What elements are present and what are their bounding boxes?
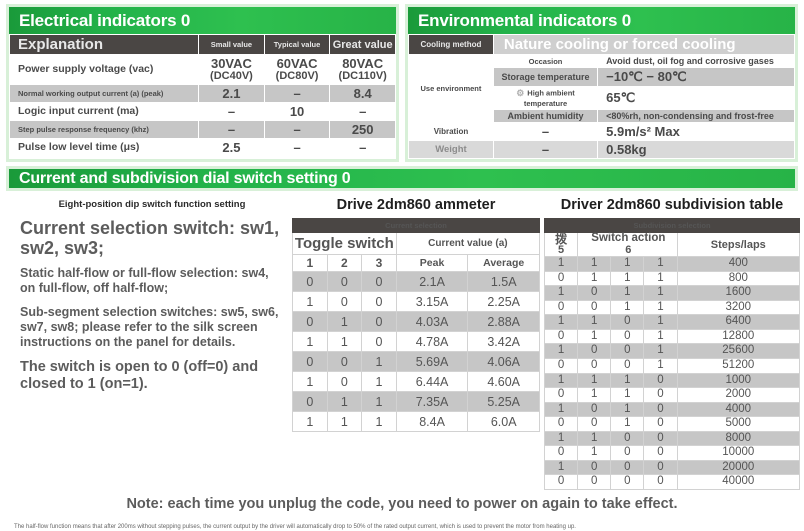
switch-cell: 0 [293, 352, 328, 372]
subdivision-band-label: Subdivision selection [545, 219, 800, 233]
switch-cell: 1 [293, 372, 328, 392]
switch-cell: 1 [611, 417, 644, 432]
switch-cell: 1 [545, 431, 578, 446]
switch-cell: 0 [578, 300, 611, 315]
switch-cell: 1 [362, 392, 397, 412]
row-label: Ambient humidity [493, 110, 597, 123]
switch-cell: 1 [578, 431, 611, 446]
column-header-explanation: Explanation [10, 35, 199, 55]
row-label: ⚙High ambient temperature [493, 87, 597, 110]
switch-cell: 1 [293, 332, 328, 352]
vibration-value: 5.9m/s² Max [598, 123, 795, 141]
switch-cell: 0 [293, 392, 328, 412]
cooling-method-label: Cooling method [409, 35, 494, 55]
power-cycle-note: Note: each time you unplug the code, you… [0, 496, 804, 512]
row-value: 65℃ [598, 87, 795, 110]
subdivision-section-header-wrap: Current and subdivision dial switch sett… [0, 162, 804, 191]
row-label: Step pulse response frequency (khz) [10, 120, 199, 138]
table-row: 1 1 0 4.78A 3.42A [293, 332, 540, 352]
table-row: Step pulse response frequency (khz) – – … [10, 120, 396, 138]
column-header-great-value: Great value [330, 35, 396, 55]
switch-cell: 0 [611, 358, 644, 373]
table-row: Normal working output current (a) (peak)… [10, 84, 396, 102]
switch-cell: 1 [644, 344, 677, 359]
weight-row: Weight – 0.58kg [409, 141, 795, 159]
switch-cell: 1 [327, 392, 362, 412]
steps-cell: 1000 [677, 373, 799, 388]
table-row: 0 1 0 0 10000 [545, 446, 800, 461]
subdivision-header-switch-action: Switch action 6 [578, 233, 677, 257]
switch-cell: 1 [578, 388, 611, 403]
table-row: Power supply voltage (vac) 30VAC (DC40V)… [10, 55, 396, 85]
lower-section: Eight-position dip switch function setti… [0, 191, 804, 490]
switch-cell: 0 [362, 292, 397, 312]
switch-cell: 1 [545, 257, 578, 272]
switch-cell: 1 [611, 257, 644, 272]
peak-header: Peak [396, 255, 468, 272]
table-row: 0 0 0 1 51200 [545, 358, 800, 373]
subdivision-section-title: Current and subdivision dial switch sett… [6, 166, 798, 191]
switch-cell: 1 [293, 292, 328, 312]
switch-cell: 0 [362, 312, 397, 332]
switch-cell: 0 [545, 475, 578, 490]
thermometer-icon: ⚙ [516, 88, 524, 99]
switch-cell: 1 [545, 315, 578, 330]
subdivision-header-steps: Steps/laps [677, 233, 799, 257]
peak-cell: 2.1A [396, 272, 468, 292]
peak-cell: 6.44A [396, 372, 468, 392]
switch-cell: 1 [578, 446, 611, 461]
switch-action-number: 6 [580, 245, 676, 256]
weight-value: 0.58kg [598, 141, 795, 159]
row-label: Normal working output current (a) (peak) [10, 84, 199, 102]
row-label: Logic input current (ma) [10, 102, 199, 120]
environmental-indicators-title: Environmental indicators 0 [408, 7, 795, 34]
cell-great-value: 250 [330, 120, 396, 138]
switch-cell: 0 [545, 358, 578, 373]
switch-cell: 0 [327, 272, 362, 292]
table-row: 0 1 1 0 2000 [545, 388, 800, 403]
table-row: 0 0 1 1 3200 [545, 300, 800, 315]
switch-cell: 1 [611, 286, 644, 301]
cell-small-value: 30VAC (DC40V) [199, 55, 265, 85]
switch-cell: 1 [327, 412, 362, 432]
switch-cell: 1 [611, 271, 644, 286]
row-label: Pulse low level time (μs) [10, 138, 199, 156]
switch-cell: 1 [578, 257, 611, 272]
switch-cell: 0 [362, 272, 397, 292]
dial-number: 5 [558, 244, 564, 256]
subdivision-column: Driver 2dm860 subdivision table Subdivis… [544, 197, 800, 490]
row-value: <80%rh, non-condensing and frost-free [598, 110, 795, 123]
switch-cell: 1 [578, 373, 611, 388]
use-environment-label: Use environment [409, 55, 494, 123]
cell-small-value: 2.1 [199, 84, 265, 102]
table-header-row: 拨 5 Switch action 6 Steps/laps [545, 233, 800, 257]
value-sub: (DC40V) [201, 71, 262, 83]
table-row: Use environment Occasion Avoid dust, oil… [409, 55, 795, 68]
row-label-text: High ambient temperature [524, 88, 575, 108]
switch-cell: 0 [611, 431, 644, 446]
peak-cell: 5.69A [396, 352, 468, 372]
switch-cell: 1 [545, 344, 578, 359]
switch-cell: 1 [611, 373, 644, 388]
steps-cell: 40000 [677, 475, 799, 490]
table-row: 1 1 1 0 1000 [545, 373, 800, 388]
switch-cell: 0 [327, 292, 362, 312]
switch-cell: 1 [578, 315, 611, 330]
ammeter-table: Current selection Toggle switch Current … [292, 218, 540, 432]
value-main: 60VAC [277, 56, 318, 71]
average-header: Average [468, 255, 540, 272]
table-row: 0 1 0 4.03A 2.88A [293, 312, 540, 332]
switch-cell: 1 [362, 352, 397, 372]
row-label: Storage temperature [493, 68, 597, 87]
switch-cell: 0 [545, 271, 578, 286]
ammeter-caption: Drive 2dm860 ammeter [292, 197, 540, 213]
cell-small-value: – [199, 120, 265, 138]
switch-cell: 0 [293, 312, 328, 332]
average-cell: 4.60A [468, 372, 540, 392]
switch-state-paragraph: The switch is open to 0 (off=0) and clos… [20, 359, 284, 393]
electrical-indicators-table: Explanation Small value Typical value Gr… [9, 34, 396, 157]
switch-cell: 0 [644, 373, 677, 388]
steps-cell: 400 [677, 257, 799, 272]
steps-cell: 800 [677, 271, 799, 286]
table-row: 0 0 0 0 40000 [545, 475, 800, 490]
table-row: 1 0 1 6.44A 4.60A [293, 372, 540, 392]
vibration-label: Vibration [409, 123, 494, 141]
ammeter-column: Drive 2dm860 ammeter Current selection T… [292, 197, 540, 490]
cell-great-value: 8.4 [330, 84, 396, 102]
table-row: Logic input current (ma) – 10 – [10, 102, 396, 120]
subdivision-header-dial: 拨 5 [545, 233, 578, 257]
switch-cell: 0 [545, 388, 578, 403]
subdivision-table: Subdivision selection 拨 5 Switch action … [544, 218, 800, 490]
cell-great-value: – [330, 102, 396, 120]
steps-cell: 10000 [677, 446, 799, 461]
row-value: −10℃ − 80℃ [598, 68, 795, 87]
current-value-header: Current value (a) [396, 233, 539, 255]
switch-cell: 0 [578, 460, 611, 475]
table-row: 1 1 0 0 8000 [545, 431, 800, 446]
switch-cell: 0 [644, 475, 677, 490]
switch-cell: 0 [644, 417, 677, 432]
switch-cell: 1 [611, 388, 644, 403]
switch-cell: 1 [644, 286, 677, 301]
half-flow-paragraph: Static half-flow or full-flow selection:… [20, 266, 284, 296]
cell-great-value: 80VAC (DC110V) [330, 55, 396, 85]
table-row: 0 1 0 1 12800 [545, 329, 800, 344]
table-row: 1 0 0 1 25600 [545, 344, 800, 359]
current-selection-switch-heading: Current selection switch: sw1, sw2, sw3; [20, 218, 284, 258]
switch-cell: 0 [578, 402, 611, 417]
steps-cell: 6400 [677, 315, 799, 330]
row-value: Avoid dust, oil fog and corrosive gases [598, 55, 795, 68]
switch-cell: 1 [362, 372, 397, 392]
switch-action-label: Switch action [591, 232, 665, 244]
switch-number-2: 2 [327, 255, 362, 272]
average-cell: 2.88A [468, 312, 540, 332]
switch-cell: 0 [327, 352, 362, 372]
switch-cell: 1 [644, 315, 677, 330]
cell-typical-value: – [264, 120, 330, 138]
average-cell: 1.5A [468, 272, 540, 292]
switch-cell: 0 [545, 300, 578, 315]
table-row: Pulse low level time (μs) 2.5 – – [10, 138, 396, 156]
average-cell: 6.0A [468, 412, 540, 432]
weight-dash: – [493, 141, 597, 159]
cell-typical-value: 10 [264, 102, 330, 120]
cell-typical-value: – [264, 138, 330, 156]
cell-small-value: – [199, 102, 265, 120]
steps-cell: 4000 [677, 402, 799, 417]
vibration-dash: – [493, 123, 597, 141]
environmental-indicators-table: Cooling method Nature cooling or forced … [408, 34, 795, 159]
switch-cell: 0 [545, 329, 578, 344]
ammeter-band-label: Current selection [293, 219, 540, 233]
switch-cell: 1 [644, 257, 677, 272]
table-subheader-row: 1 2 3 Peak Average [293, 255, 540, 272]
table-header-row: Explanation Small value Typical value Gr… [10, 35, 396, 55]
half-flow-disclaimer: The half-flow function means that after … [0, 524, 804, 531]
dip-switch-description-column: Eight-position dip switch function setti… [6, 197, 288, 490]
cell-great-value: – [330, 138, 396, 156]
switch-cell: 1 [293, 412, 328, 432]
table-row: 0 1 1 1 800 [545, 271, 800, 286]
switch-cell: 1 [327, 332, 362, 352]
steps-cell: 2000 [677, 388, 799, 403]
electrical-indicators-panel: Electrical indicators 0 Explanation Smal… [6, 4, 399, 162]
switch-cell: 0 [611, 344, 644, 359]
switch-cell: 0 [578, 344, 611, 359]
steps-cell: 51200 [677, 358, 799, 373]
switch-cell: 0 [578, 358, 611, 373]
cell-small-value: 2.5 [199, 138, 265, 156]
switch-cell: 1 [545, 460, 578, 475]
switch-cell: 1 [611, 402, 644, 417]
top-specs-section: Electrical indicators 0 Explanation Smal… [0, 0, 804, 162]
switch-cell: 1 [545, 402, 578, 417]
switch-cell: 1 [545, 373, 578, 388]
switch-cell: 1 [611, 300, 644, 315]
switch-cell: 0 [578, 417, 611, 432]
steps-cell: 20000 [677, 460, 799, 475]
table-row: 0 0 1 5.69A 4.06A [293, 352, 540, 372]
switch-cell: 0 [611, 475, 644, 490]
table-row: 0 1 1 7.35A 5.25A [293, 392, 540, 412]
switch-cell: 0 [644, 446, 677, 461]
table-row: 0 0 0 2.1A 1.5A [293, 272, 540, 292]
table-row: 1 0 0 0 20000 [545, 460, 800, 475]
peak-cell: 8.4A [396, 412, 468, 432]
switch-cell: 1 [644, 300, 677, 315]
subdivision-caption: Driver 2dm860 subdivision table [544, 197, 800, 213]
table-row: 1 0 1 0 4000 [545, 402, 800, 417]
switch-cell: 0 [611, 460, 644, 475]
sub-segment-paragraph: Sub-segment selection switches: sw5, sw6… [20, 305, 284, 350]
steps-cell: 1600 [677, 286, 799, 301]
switch-cell: 0 [644, 388, 677, 403]
switch-cell: 1 [644, 271, 677, 286]
vibration-row: Vibration – 5.9m/s² Max [409, 123, 795, 141]
cell-typical-value: 60VAC (DC80V) [264, 55, 330, 85]
switch-cell: 1 [327, 312, 362, 332]
steps-cell: 12800 [677, 329, 799, 344]
peak-cell: 7.35A [396, 392, 468, 412]
peak-cell: 4.03A [396, 312, 468, 332]
switch-cell: 0 [293, 272, 328, 292]
switch-cell: 1 [644, 358, 677, 373]
switch-cell: 0 [611, 446, 644, 461]
switch-cell: 0 [578, 286, 611, 301]
cooling-method-value: Nature cooling or forced cooling [493, 35, 794, 55]
electrical-indicators-title: Electrical indicators 0 [9, 7, 396, 34]
switch-cell: 0 [644, 460, 677, 475]
table-row: 1 0 0 3.15A 2.25A [293, 292, 540, 312]
switch-number-3: 3 [362, 255, 397, 272]
switch-cell: 0 [362, 332, 397, 352]
value-sub: (DC110V) [332, 71, 393, 83]
switch-cell: 0 [545, 417, 578, 432]
value-sub: (DC80V) [267, 71, 328, 83]
switch-cell: 1 [644, 329, 677, 344]
steps-cell: 5000 [677, 417, 799, 432]
environmental-indicators-panel: Environmental indicators 0 Cooling metho… [405, 4, 798, 162]
toggle-switch-header: Toggle switch [293, 233, 397, 255]
peak-cell: 3.15A [396, 292, 468, 312]
steps-cell: 25600 [677, 344, 799, 359]
switch-cell: 0 [545, 446, 578, 461]
switch-cell: 1 [545, 286, 578, 301]
cooling-method-row: Cooling method Nature cooling or forced … [409, 35, 795, 55]
row-label: Power supply voltage (vac) [10, 55, 199, 85]
table-header-row: Toggle switch Current value (a) [293, 233, 540, 255]
peak-cell: 4.78A [396, 332, 468, 352]
average-cell: 4.06A [468, 352, 540, 372]
switch-cell: 1 [362, 412, 397, 432]
switch-cell: 0 [611, 329, 644, 344]
steps-cell: 3200 [677, 300, 799, 315]
column-header-small-value: Small value [199, 35, 265, 55]
table-row: 1 0 1 1 1600 [545, 286, 800, 301]
dip-switch-caption: Eight-position dip switch function setti… [20, 199, 284, 210]
switch-cell: 0 [644, 431, 677, 446]
average-cell: 5.25A [468, 392, 540, 412]
switch-cell: 0 [578, 475, 611, 490]
average-cell: 2.25A [468, 292, 540, 312]
cell-typical-value: – [264, 84, 330, 102]
switch-cell: 0 [611, 315, 644, 330]
switch-number-1: 1 [293, 255, 328, 272]
table-band-row: Subdivision selection [545, 219, 800, 233]
table-row: 1 1 0 1 6400 [545, 315, 800, 330]
switch-cell: 0 [644, 402, 677, 417]
table-row: 1 1 1 1 400 [545, 257, 800, 272]
table-band-row: Current selection [293, 219, 540, 233]
switch-cell: 1 [578, 271, 611, 286]
value-main: 80VAC [342, 56, 383, 71]
column-header-typical-value: Typical value [264, 35, 330, 55]
table-row: 1 1 1 8.4A 6.0A [293, 412, 540, 432]
switch-cell: 0 [327, 372, 362, 392]
steps-cell: 8000 [677, 431, 799, 446]
row-label: Occasion [493, 55, 597, 68]
switch-cell: 1 [578, 329, 611, 344]
average-cell: 3.42A [468, 332, 540, 352]
value-main: 30VAC [211, 56, 252, 71]
weight-label: Weight [409, 141, 494, 159]
table-row: 0 0 1 0 5000 [545, 417, 800, 432]
